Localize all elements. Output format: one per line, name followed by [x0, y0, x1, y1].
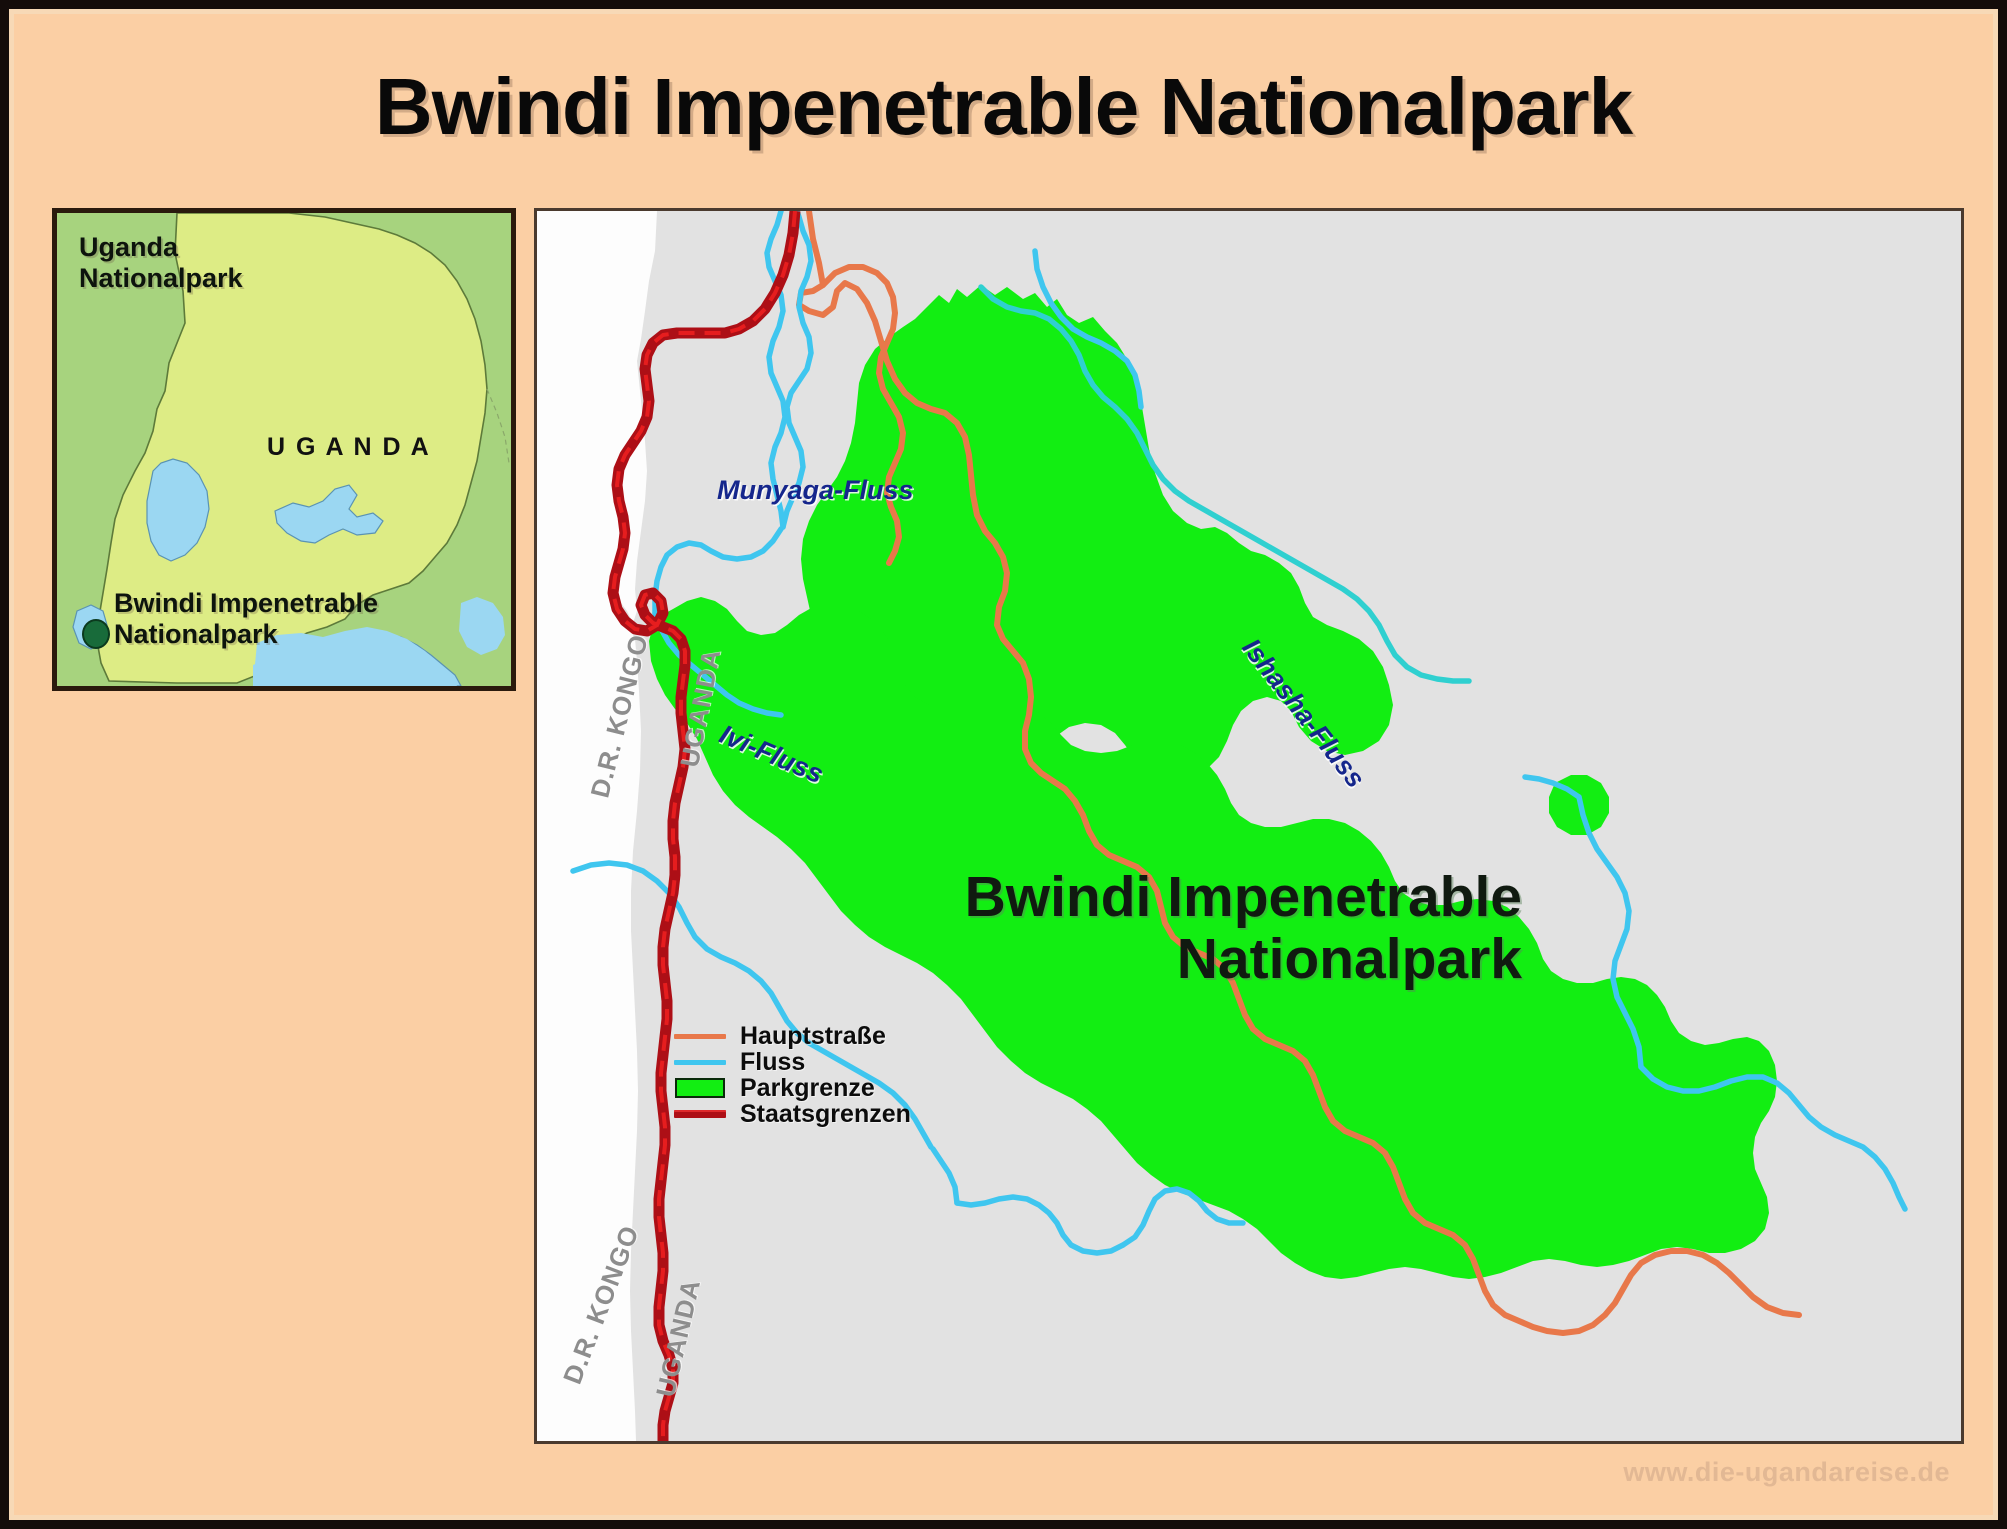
page-title: Bwindi Impenetrable Nationalpark [9, 61, 1998, 153]
inset-capital-label: Kampala [300, 685, 404, 691]
legend-label-border: Staatsgrenzen [740, 1100, 911, 1129]
legend-label-road: Hauptstraße [740, 1022, 886, 1051]
road-line-icon [672, 1034, 728, 1039]
watermark-url: www.die-ugandareise.de [1623, 1457, 1950, 1488]
legend-item-river: Fluss [672, 1049, 1002, 1075]
river-line-icon [672, 1060, 728, 1065]
park-marker-icon [82, 619, 110, 649]
inset-park-label-line1: Bwindi Impenetrable [114, 588, 378, 619]
legend-item-road: Hauptstraße [672, 1023, 1002, 1049]
legend-item-park: Parkgrenze [672, 1075, 1002, 1101]
congo-land [537, 211, 657, 1441]
park-area-icon [672, 1078, 728, 1098]
inset-heading-line1: Uganda [79, 232, 178, 263]
inset-country-label: U G A N D A [267, 433, 431, 462]
map-legend: Hauptstraße Fluss Parkgrenze Staatsgrenz… [672, 1023, 1002, 1127]
park-name-line1: Bwindi Impenetrable [822, 867, 1522, 929]
legend-label-river: Fluss [740, 1048, 805, 1077]
legend-item-border: Staatsgrenzen [672, 1101, 1002, 1127]
legend-label-park: Parkgrenze [740, 1074, 875, 1103]
border-line-icon [672, 1110, 728, 1118]
inset-heading-line2: Nationalpark [79, 263, 243, 294]
park-name-label: Bwindi Impenetrable Nationalpark [822, 867, 1522, 990]
river-label-munyaga: Munyaga-Fluss [717, 475, 914, 506]
main-map[interactable]: D.R. KONGO UGANDA D.R. KONGO UGANDA Muny… [534, 208, 1964, 1444]
main-map-graphic [537, 211, 1961, 1441]
inset-locator-map[interactable]: Uganda Nationalpark U G A N D A Kampala … [52, 208, 516, 691]
park-name-line2: Nationalpark [822, 929, 1522, 991]
inset-park-label-line2: Nationalpark [114, 619, 278, 650]
map-poster: Bwindi Impenetrable Nationalpark [0, 0, 2007, 1529]
